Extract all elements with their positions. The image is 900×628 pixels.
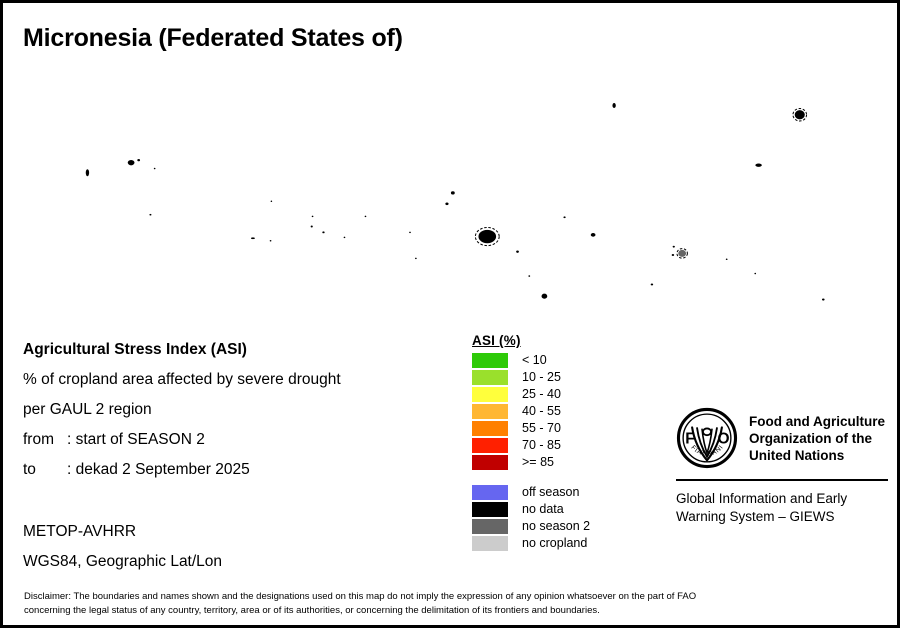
legend-label: no data bbox=[522, 502, 564, 517]
legend-label: < 10 bbox=[522, 353, 547, 368]
legend-label: 10 - 25 bbox=[522, 370, 561, 385]
legend-row[interactable]: >= 85 bbox=[472, 454, 652, 471]
map-legend: ASI (%) < 1010 - 2525 - 4040 - 5555 - 70… bbox=[472, 333, 652, 552]
legend-swatch bbox=[472, 455, 508, 470]
map-island-fais[interactable] bbox=[154, 168, 156, 170]
legend-row[interactable]: off season bbox=[472, 484, 652, 501]
giews-line-2: Warning System – GIEWS bbox=[676, 508, 888, 526]
giews-name: Global Information and Early Warning Sys… bbox=[676, 490, 888, 526]
map-island-north-outlier[interactable] bbox=[612, 103, 615, 108]
map-island-sorol[interactable] bbox=[271, 201, 273, 203]
svg-text:F: F bbox=[685, 431, 694, 448]
legend-row[interactable]: 40 - 55 bbox=[472, 403, 652, 420]
info-description-line-2: per GAUL 2 region bbox=[23, 395, 453, 425]
map-canvas[interactable] bbox=[7, 61, 897, 313]
legend-label: no season 2 bbox=[522, 519, 590, 534]
legend-swatch bbox=[472, 404, 508, 419]
map-island-namonuito-b[interactable] bbox=[445, 202, 448, 205]
map-island-mokil[interactable] bbox=[726, 258, 728, 260]
legend-status-list: off seasonno datano season 2no cropland bbox=[472, 484, 652, 552]
fao-org-line-2: Organization of the bbox=[749, 430, 885, 447]
map-island-faraulep[interactable] bbox=[312, 216, 314, 218]
period-from-value: : start of SEASON 2 bbox=[67, 431, 205, 448]
map-island-yap-main[interactable] bbox=[128, 160, 135, 165]
legend-swatch bbox=[472, 438, 508, 453]
fao-divider bbox=[676, 479, 888, 481]
legend-label: >= 85 bbox=[522, 455, 554, 470]
legend-label: 25 - 40 bbox=[522, 387, 561, 402]
map-island-chuuk-east[interactable] bbox=[516, 251, 519, 253]
period-to-key: to bbox=[23, 455, 67, 485]
map-island-ngulu[interactable] bbox=[86, 169, 89, 176]
map-island-gaferut[interactable] bbox=[415, 258, 417, 260]
legend-label: 70 - 85 bbox=[522, 438, 561, 453]
map-island-ifalik[interactable] bbox=[270, 240, 272, 242]
map-source-block: METOP-AVHRR WGS84, Geographic Lat/Lon bbox=[23, 517, 222, 577]
projection-label: WGS84, Geographic Lat/Lon bbox=[23, 547, 222, 577]
asi-map-page: Micronesia (Federated States of) Agricul… bbox=[0, 0, 900, 628]
legend-title: ASI (%) bbox=[472, 333, 652, 348]
legend-swatch bbox=[472, 536, 508, 551]
legend-spacer bbox=[472, 471, 652, 484]
map-island-kapingamarangi[interactable] bbox=[822, 299, 825, 301]
legend-swatch bbox=[472, 485, 508, 500]
legend-class-list: < 1010 - 2525 - 4040 - 5555 - 7070 - 85>… bbox=[472, 352, 652, 471]
legend-label: off season bbox=[522, 485, 579, 500]
map-island-puluwat[interactable] bbox=[365, 216, 367, 218]
sensor-label: METOP-AVHRR bbox=[23, 517, 222, 547]
map-island-nukuoro[interactable] bbox=[651, 284, 654, 286]
info-period-to: to: dekad 2 September 2025 bbox=[23, 455, 453, 485]
map-island-nama[interactable] bbox=[591, 233, 596, 237]
map-island-pohnpei-west[interactable] bbox=[672, 254, 675, 256]
legend-row[interactable]: 25 - 40 bbox=[472, 386, 652, 403]
map-island-satawal[interactable] bbox=[344, 237, 346, 239]
disclaimer-line-2: concerning the legal status of any count… bbox=[24, 604, 884, 618]
fao-org-line-3: United Nations bbox=[749, 447, 885, 464]
map-features bbox=[7, 61, 897, 313]
fao-org-line-1: Food and Agriculture bbox=[749, 413, 885, 430]
info-period-from: from: start of SEASON 2 bbox=[23, 425, 453, 455]
info-description-line-1: % of cropland area affected by severe dr… bbox=[23, 365, 453, 395]
legend-label: no cropland bbox=[522, 536, 587, 551]
map-island-ulithi[interactable] bbox=[149, 214, 151, 216]
map-island-pohnpei[interactable] bbox=[678, 250, 686, 257]
map-island-satawan[interactable] bbox=[542, 294, 548, 299]
fao-branding-block: F O FIAT PANIS Food and Agriculture Orga… bbox=[676, 407, 888, 526]
period-to-value: : dekad 2 September 2025 bbox=[67, 461, 250, 478]
legend-swatch bbox=[472, 421, 508, 436]
map-island-elato[interactable] bbox=[311, 225, 313, 227]
giews-line-1: Global Information and Early bbox=[676, 490, 888, 508]
map-info-block: Agricultural Stress Index (ASI) % of cro… bbox=[23, 335, 453, 485]
legend-swatch bbox=[472, 519, 508, 534]
legend-row[interactable]: 10 - 25 bbox=[472, 369, 652, 386]
fao-organization-name: Food and Agriculture Organization of the… bbox=[749, 413, 885, 464]
legend-swatch bbox=[472, 353, 508, 368]
info-heading: Agricultural Stress Index (ASI) bbox=[23, 335, 453, 365]
legend-row[interactable]: 70 - 85 bbox=[472, 437, 652, 454]
map-island-lamotrek[interactable] bbox=[322, 231, 324, 233]
legend-row[interactable]: no season 2 bbox=[472, 518, 652, 535]
period-from-key: from bbox=[23, 425, 67, 455]
map-island-yap-outlier-a[interactable] bbox=[137, 159, 140, 161]
legend-swatch bbox=[472, 387, 508, 402]
map-island-oroluk[interactable] bbox=[673, 246, 675, 248]
disclaimer-line-1: Disclaimer: The boundaries and names sho… bbox=[24, 590, 884, 604]
map-island-kosrae[interactable] bbox=[755, 163, 761, 166]
map-island-pingelap[interactable] bbox=[754, 273, 756, 275]
legend-label: 40 - 55 bbox=[522, 404, 561, 419]
legend-row[interactable]: < 10 bbox=[472, 352, 652, 369]
map-island-woleai[interactable] bbox=[251, 237, 255, 239]
disclaimer: Disclaimer: The boundaries and names sho… bbox=[24, 590, 884, 617]
legend-swatch bbox=[472, 370, 508, 385]
map-island-lukunor[interactable] bbox=[528, 275, 530, 277]
legend-label: 55 - 70 bbox=[522, 421, 561, 436]
page-title: Micronesia (Federated States of) bbox=[23, 24, 403, 53]
legend-row[interactable]: 55 - 70 bbox=[472, 420, 652, 437]
map-island-ne-atoll[interactable] bbox=[795, 110, 805, 119]
map-island-pulusuk[interactable] bbox=[409, 232, 411, 234]
fao-header: F O FIAT PANIS Food and Agriculture Orga… bbox=[676, 407, 888, 469]
map-island-chuuk-lagoon[interactable] bbox=[478, 230, 496, 243]
map-island-namonuito-a[interactable] bbox=[451, 191, 455, 194]
legend-row[interactable]: no cropland bbox=[472, 535, 652, 552]
legend-row[interactable]: no data bbox=[472, 501, 652, 518]
legend-swatch bbox=[472, 502, 508, 517]
map-island-losap[interactable] bbox=[563, 216, 565, 218]
fao-logo: F O FIAT PANIS bbox=[676, 407, 738, 469]
